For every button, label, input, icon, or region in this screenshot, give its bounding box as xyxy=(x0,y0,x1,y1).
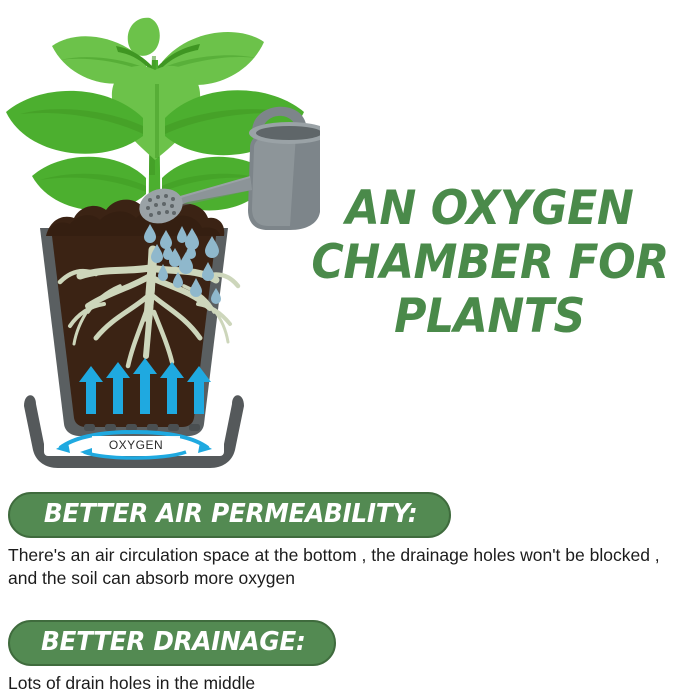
potted-plant-oxygen-chamber-illustration: OXYGEN xyxy=(0,0,320,478)
feature-body-air-permeability: There's an air circulation space at the … xyxy=(8,544,672,590)
page-title: AN OXYGEN CHAMBER FOR PLANTS xyxy=(300,182,679,344)
feature-body-drainage: Lots of drain holes in the middle xyxy=(8,672,672,695)
headline-line-3: PLANTS xyxy=(311,290,667,344)
oxygen-label: OXYGEN xyxy=(109,438,163,452)
feature-block-air-permeability: BETTER AIR PERMEABILITY: There's an air … xyxy=(0,492,679,590)
headline-line-1: AN OXYGEN xyxy=(311,182,667,236)
feature-badge-drainage: BETTER DRAINAGE: xyxy=(8,620,336,666)
feature-badge-label: BETTER AIR PERMEABILITY: xyxy=(44,499,418,529)
feature-block-drainage: BETTER DRAINAGE: Lots of drain holes in … xyxy=(0,620,679,695)
feature-badge-label: BETTER DRAINAGE: xyxy=(41,627,306,657)
feature-badge-air-permeability: BETTER AIR PERMEABILITY: xyxy=(8,492,451,538)
headline-line-2: CHAMBER FOR xyxy=(311,236,667,290)
infographic-page: OXYGEN xyxy=(0,0,679,693)
